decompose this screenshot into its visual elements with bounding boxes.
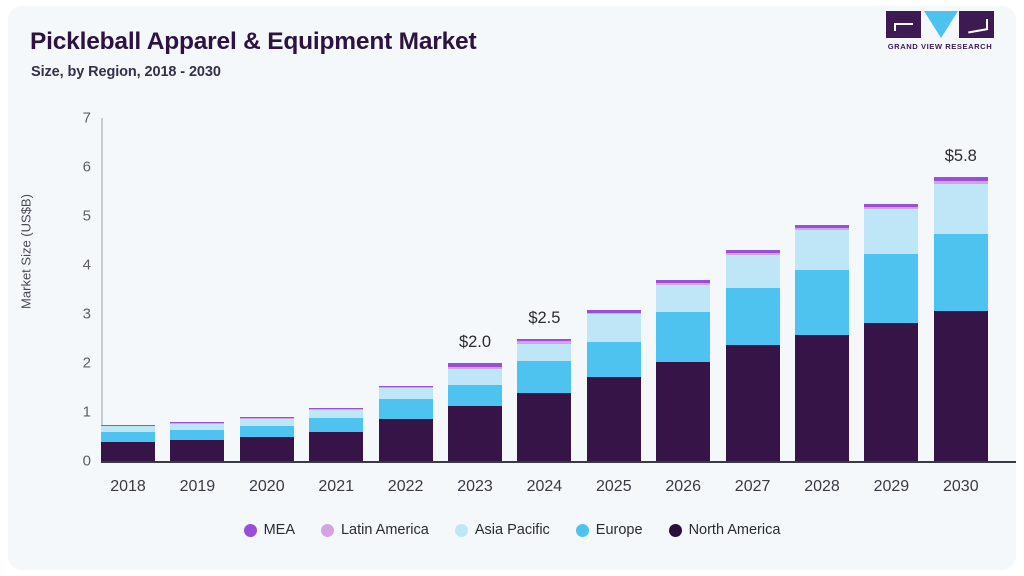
bar-segment-latin-america[interactable] bbox=[934, 181, 988, 184]
screenshot-root: Pickleball Apparel & Equipment Market Si… bbox=[0, 0, 1024, 576]
bar-2022[interactable] bbox=[379, 118, 433, 461]
x-axis-tick-label-2021: 2021 bbox=[296, 478, 376, 496]
bar-2027[interactable] bbox=[726, 118, 780, 461]
bar-segment-europe[interactable] bbox=[795, 270, 849, 335]
bar-segment-europe[interactable] bbox=[170, 430, 224, 440]
bar-segment-mea[interactable] bbox=[934, 177, 988, 181]
x-axis-tick-label-2020: 2020 bbox=[227, 478, 307, 496]
bar-segment-mea[interactable] bbox=[656, 280, 710, 282]
bar-2030[interactable] bbox=[934, 118, 988, 461]
bar-segment-asia-pacific[interactable] bbox=[934, 184, 988, 234]
legend-item-mea[interactable]: MEA bbox=[244, 522, 295, 538]
bar-segment-north-america[interactable] bbox=[656, 362, 710, 461]
legend-swatch-icon bbox=[244, 524, 257, 537]
bar-segment-north-america[interactable] bbox=[101, 442, 155, 461]
bar-segment-asia-pacific[interactable] bbox=[656, 285, 710, 312]
legend-label: Asia Pacific bbox=[475, 522, 550, 538]
bar-2018[interactable] bbox=[101, 118, 155, 461]
bar-segment-mea[interactable] bbox=[864, 204, 918, 207]
bar-segment-mea[interactable] bbox=[726, 250, 780, 252]
bar-2026[interactable] bbox=[656, 118, 710, 461]
x-axis-tick-label-2026: 2026 bbox=[643, 478, 723, 496]
bar-segment-mea[interactable] bbox=[448, 363, 502, 366]
bar-segment-asia-pacific[interactable] bbox=[240, 419, 294, 426]
x-axis-tick-label-2029: 2029 bbox=[851, 478, 931, 496]
bar-segment-north-america[interactable] bbox=[379, 419, 433, 461]
legend-item-latin-america[interactable]: Latin America bbox=[321, 522, 429, 538]
legend-swatch-icon bbox=[669, 524, 682, 537]
bar-segment-latin-america[interactable] bbox=[656, 283, 710, 285]
legend-swatch-icon bbox=[455, 524, 468, 537]
bar-segment-latin-america[interactable] bbox=[795, 228, 849, 230]
bar-value-label-2023: $2.0 bbox=[435, 333, 515, 352]
bar-segment-latin-america[interactable] bbox=[379, 387, 433, 388]
y-axis-tick-label: 2 bbox=[65, 355, 91, 372]
bar-segment-mea[interactable] bbox=[309, 408, 363, 409]
bar-segment-north-america[interactable] bbox=[934, 311, 988, 461]
bar-segment-asia-pacific[interactable] bbox=[587, 314, 641, 342]
legend-item-europe[interactable]: Europe bbox=[576, 522, 643, 538]
bar-segment-europe[interactable] bbox=[379, 399, 433, 419]
bar-segment-asia-pacific[interactable] bbox=[864, 209, 918, 254]
legend-swatch-icon bbox=[321, 524, 334, 537]
y-axis-tick-label: 3 bbox=[65, 306, 91, 323]
bar-segment-mea[interactable] bbox=[379, 386, 433, 387]
bar-segment-asia-pacific[interactable] bbox=[101, 426, 155, 432]
legend-item-north-america[interactable]: North America bbox=[669, 522, 781, 538]
y-axis-title: Market Size (US$B) bbox=[19, 172, 34, 332]
bar-segment-mea[interactable] bbox=[587, 310, 641, 312]
bar-segment-asia-pacific[interactable] bbox=[379, 388, 433, 399]
y-axis-tick-label: 5 bbox=[65, 208, 91, 225]
bar-segment-asia-pacific[interactable] bbox=[517, 344, 571, 361]
legend-label: Latin America bbox=[341, 522, 429, 538]
bar-segment-mea[interactable] bbox=[170, 422, 224, 423]
x-axis-tick-label-2022: 2022 bbox=[366, 478, 446, 496]
y-axis-tick-label: 7 bbox=[65, 110, 91, 127]
bar-segment-north-america[interactable] bbox=[517, 393, 571, 461]
bar-segment-asia-pacific[interactable] bbox=[726, 255, 780, 288]
bar-segment-europe[interactable] bbox=[587, 342, 641, 376]
bar-value-label-2024: $2.5 bbox=[504, 309, 584, 328]
bar-segment-latin-america[interactable] bbox=[448, 367, 502, 369]
bar-2023[interactable] bbox=[448, 118, 502, 461]
bar-segment-europe[interactable] bbox=[517, 361, 571, 393]
x-axis-tick-label-2018: 2018 bbox=[88, 478, 168, 496]
bar-segment-europe[interactable] bbox=[656, 312, 710, 362]
bar-2028[interactable] bbox=[795, 118, 849, 461]
bar-segment-asia-pacific[interactable] bbox=[309, 410, 363, 418]
bar-segment-europe[interactable] bbox=[101, 432, 155, 442]
bar-segment-north-america[interactable] bbox=[240, 437, 294, 461]
legend-item-asia-pacific[interactable]: Asia Pacific bbox=[455, 522, 550, 538]
x-axis-tick-label-2028: 2028 bbox=[782, 478, 862, 496]
bar-segment-latin-america[interactable] bbox=[864, 207, 918, 209]
bar-segment-latin-america[interactable] bbox=[587, 313, 641, 315]
bar-segment-mea[interactable] bbox=[101, 425, 155, 426]
bar-segment-north-america[interactable] bbox=[587, 377, 641, 461]
bar-segment-asia-pacific[interactable] bbox=[448, 369, 502, 384]
legend-swatch-icon bbox=[576, 524, 589, 537]
bar-segment-europe[interactable] bbox=[726, 288, 780, 345]
legend-label: MEA bbox=[264, 522, 295, 538]
bar-segment-europe[interactable] bbox=[864, 254, 918, 324]
bar-segment-latin-america[interactable] bbox=[726, 253, 780, 255]
bar-segment-latin-america[interactable] bbox=[517, 341, 571, 343]
bar-segment-north-america[interactable] bbox=[864, 323, 918, 461]
bar-segment-mea[interactable] bbox=[795, 225, 849, 228]
bar-segment-north-america[interactable] bbox=[726, 345, 780, 461]
y-axis-tick-label: 4 bbox=[65, 257, 91, 274]
bar-segment-north-america[interactable] bbox=[170, 440, 224, 461]
bar-segment-europe[interactable] bbox=[448, 385, 502, 406]
x-axis-tick-label-2024: 2024 bbox=[504, 478, 584, 496]
bar-segment-north-america[interactable] bbox=[448, 406, 502, 461]
bar-segment-mea[interactable] bbox=[240, 417, 294, 418]
x-axis-tick-label-2030: 2030 bbox=[921, 478, 1001, 496]
bar-value-label-2030: $5.8 bbox=[921, 147, 1001, 166]
bar-segment-europe[interactable] bbox=[934, 234, 988, 310]
x-axis-tick-label-2025: 2025 bbox=[574, 478, 654, 496]
bar-2025[interactable] bbox=[587, 118, 641, 461]
x-axis-tick-label-2027: 2027 bbox=[713, 478, 793, 496]
bar-segment-north-america[interactable] bbox=[309, 432, 363, 461]
bar-segment-asia-pacific[interactable] bbox=[170, 423, 224, 429]
bar-2024[interactable] bbox=[517, 118, 571, 461]
bar-segment-europe[interactable] bbox=[309, 418, 363, 432]
bar-2020[interactable] bbox=[240, 118, 294, 461]
x-axis-line bbox=[101, 461, 1016, 463]
bar-chart-plot: Market Size (US$B) 012345672018201920202… bbox=[8, 6, 1016, 570]
y-axis-tick-label: 6 bbox=[65, 159, 91, 176]
bar-2029[interactable] bbox=[864, 118, 918, 461]
bar-segment-europe[interactable] bbox=[240, 426, 294, 438]
bar-segment-north-america[interactable] bbox=[795, 335, 849, 461]
x-axis-tick-label-2019: 2019 bbox=[157, 478, 237, 496]
legend-label: Europe bbox=[596, 522, 643, 538]
bar-2021[interactable] bbox=[309, 118, 363, 461]
chart-card: Pickleball Apparel & Equipment Market Si… bbox=[8, 6, 1016, 570]
bar-segment-asia-pacific[interactable] bbox=[795, 230, 849, 270]
bar-segment-mea[interactable] bbox=[517, 339, 571, 342]
bar-2019[interactable] bbox=[170, 118, 224, 461]
y-axis-tick-label: 1 bbox=[65, 404, 91, 421]
legend-label: North America bbox=[689, 522, 781, 538]
x-axis-tick-label-2023: 2023 bbox=[435, 478, 515, 496]
chart-legend: MEALatin AmericaAsia PacificEuropeNorth … bbox=[8, 522, 1016, 538]
y-axis-tick-label: 0 bbox=[65, 453, 91, 470]
